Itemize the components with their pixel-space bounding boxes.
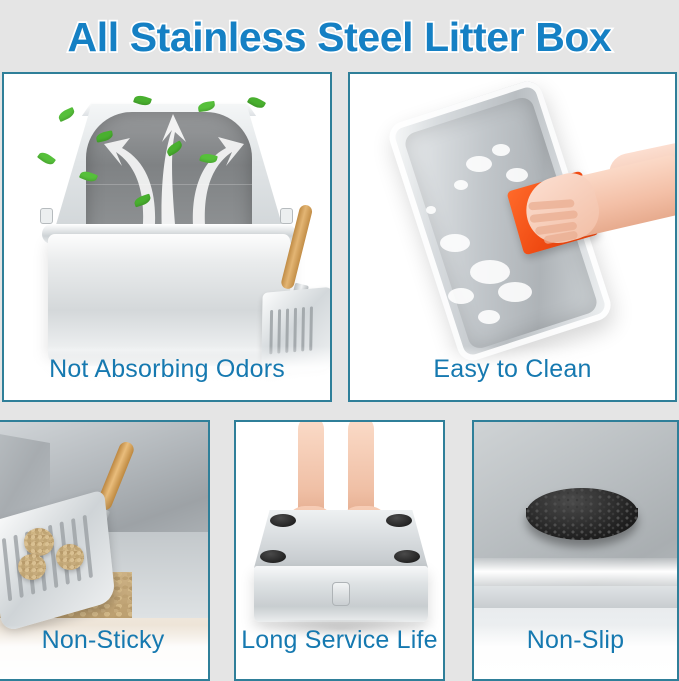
feature-panel-easy-to-clean: Easy to Clean [348, 72, 677, 402]
page-title-bar: All Stainless Steel Litter Box [0, 8, 679, 66]
finger [528, 199, 574, 210]
soap-sud [492, 144, 510, 156]
litter-clump [18, 554, 46, 580]
leaf-icon [57, 107, 76, 122]
soap-sud [478, 310, 500, 324]
soap-sud [498, 282, 532, 302]
rubber-pad-front-right [394, 550, 420, 563]
feature-panel-non-sticky: Non-Sticky [0, 420, 210, 681]
litter-clump [56, 544, 84, 570]
soap-sud [454, 180, 468, 190]
latch-icon [332, 582, 350, 606]
rubber-pad-back-right [386, 514, 412, 527]
litter-clump [24, 528, 54, 556]
leg-left [298, 420, 324, 520]
soap-sud [466, 156, 492, 172]
panel-caption: Non-Slip [474, 626, 677, 655]
panel-caption: Long Service Life [236, 626, 443, 655]
soap-sud [440, 234, 470, 252]
leaf-icon [37, 150, 56, 167]
rubber-pad-front-left [260, 550, 286, 563]
lower-band [474, 586, 677, 608]
finger [529, 210, 578, 223]
page-title: All Stainless Steel Litter Box [68, 14, 612, 61]
non-slip-pad [526, 488, 638, 540]
scoop-handle [280, 204, 313, 291]
feature-panel-non-slip: Non-Slip [472, 420, 679, 681]
side-clip-left-icon [40, 208, 53, 224]
soap-sud [470, 260, 510, 284]
soap-sud [448, 288, 474, 304]
soap-sud [506, 168, 528, 182]
leg-right [348, 420, 374, 520]
panel-caption: Not Absorbing Odors [4, 355, 330, 384]
feature-panel-not-absorbing-odors: Not Absorbing Odors [2, 72, 332, 402]
soap-sud [426, 206, 436, 214]
airflow-arrow-right-icon [188, 126, 250, 238]
highlight-band [474, 558, 677, 588]
infographic-page: All Stainless Steel Litter Box [0, 0, 679, 679]
panel-caption: Easy to Clean [350, 355, 675, 384]
panel-caption: Non-Sticky [0, 626, 208, 655]
feature-panel-long-service-life: Long Service Life [234, 420, 445, 681]
rubber-pad-back-left [270, 514, 296, 527]
